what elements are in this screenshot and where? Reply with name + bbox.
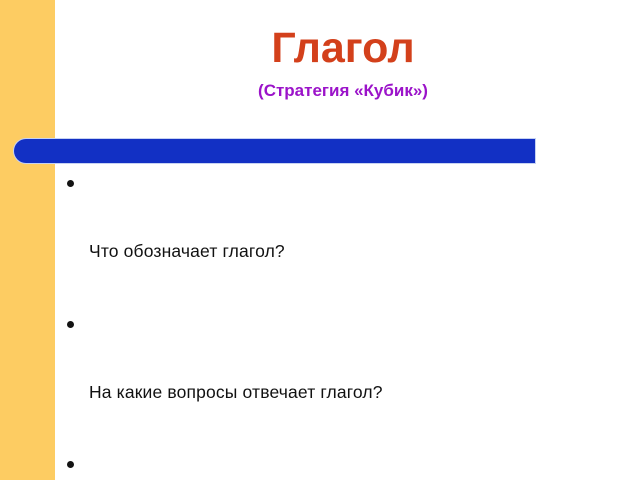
- page-subtitle: (Стратегия «Кубик»): [58, 82, 628, 101]
- bullet-dot-icon: [67, 461, 74, 468]
- list-item: На какие вопросы отвечает глагол?: [64, 313, 584, 450]
- question-list: Что обозначает глагол? На какие вопросы …: [64, 172, 584, 480]
- title-block: Глагол (Стратегия «Кубик»): [58, 26, 628, 101]
- bullet-dot-icon: [67, 321, 74, 328]
- bullet-dot-icon: [67, 180, 74, 187]
- list-item-label: На какие вопросы отвечает глагол?: [89, 381, 584, 404]
- sidebar-accent-band: [0, 0, 55, 480]
- list-item: Что обозначает глагол?: [64, 172, 584, 309]
- page-title: Глагол: [58, 26, 628, 71]
- list-item-label: Что обозначает глагол?: [89, 240, 584, 263]
- slide-canvas: Глагол (Стратегия «Кубик») Что обозначае…: [0, 0, 640, 480]
- list-item: Назовите морфологические признаки глагол…: [64, 453, 584, 480]
- divider-bar: [14, 139, 535, 163]
